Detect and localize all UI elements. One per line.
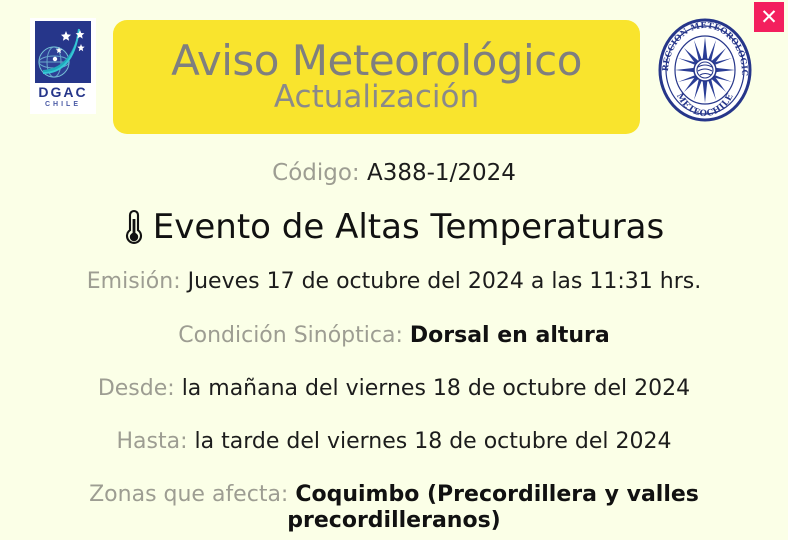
- dgac-logo-primary-text: DGAC: [38, 85, 87, 99]
- dgac-logo-text: DGAC CHILE: [38, 85, 87, 108]
- zonas-afecta-row: Zonas que afecta: Coquimbo (Precordiller…: [10, 482, 778, 535]
- alert-banner-subtitle: Actualización: [274, 81, 479, 114]
- codigo-row: Código: A388-1/2024: [10, 160, 778, 188]
- close-button[interactable]: ✕: [754, 2, 784, 32]
- zonas-afecta-label: Zonas que afecta:: [89, 482, 288, 507]
- hasta-label: Hasta:: [117, 429, 188, 454]
- close-icon: ✕: [760, 7, 778, 28]
- desde-value: la mañana del viernes 18 de octubre del …: [182, 376, 690, 401]
- thermometer-icon: [124, 209, 144, 245]
- dgac-logo-secondary-text: CHILE: [38, 101, 87, 108]
- codigo-value: A388-1/2024: [367, 160, 516, 186]
- alert-banner: Aviso Meteorológico Actualización: [113, 20, 640, 134]
- codigo-label: Código:: [272, 160, 360, 186]
- desde-label: Desde:: [98, 376, 175, 401]
- hasta-row: Hasta: la tarde del viernes 18 de octubr…: [10, 429, 778, 455]
- condicion-sinoptica-row: Condición Sinóptica: Dorsal en altura: [10, 323, 778, 349]
- emision-value: Jueves 17 de octubre del 2024 a las 11:3…: [188, 269, 702, 294]
- evento-row: Evento de Altas Temperaturas: [10, 207, 778, 248]
- meteochile-seal: DIRECCIÓN METEOROLÓGICA METEOCHILE: [656, 18, 754, 122]
- dgac-chile-logo: DGAC CHILE: [30, 18, 96, 114]
- alert-banner-title: Aviso Meteorológico: [171, 40, 582, 83]
- evento-title: Evento de Altas Temperaturas: [153, 207, 664, 248]
- dgac-emblem-icon: [35, 21, 91, 83]
- alert-body: Código: A388-1/2024 Evento de Altas Temp…: [0, 160, 788, 535]
- desde-row: Desde: la mañana del viernes 18 de octub…: [10, 376, 778, 402]
- alert-header: DGAC CHILE Aviso Meteorológico Actualiza…: [0, 0, 788, 140]
- condicion-sinoptica-label: Condición Sinóptica:: [178, 323, 403, 348]
- emision-label: Emisión:: [87, 269, 181, 294]
- hasta-value: la tarde del viernes 18 de octubre del 2…: [195, 429, 672, 454]
- condicion-sinoptica-value: Dorsal en altura: [410, 323, 610, 348]
- emision-row: Emisión: Jueves 17 de octubre del 2024 a…: [10, 269, 778, 295]
- zonas-afecta-value: Coquimbo (Precordillera y valles precord…: [287, 482, 699, 533]
